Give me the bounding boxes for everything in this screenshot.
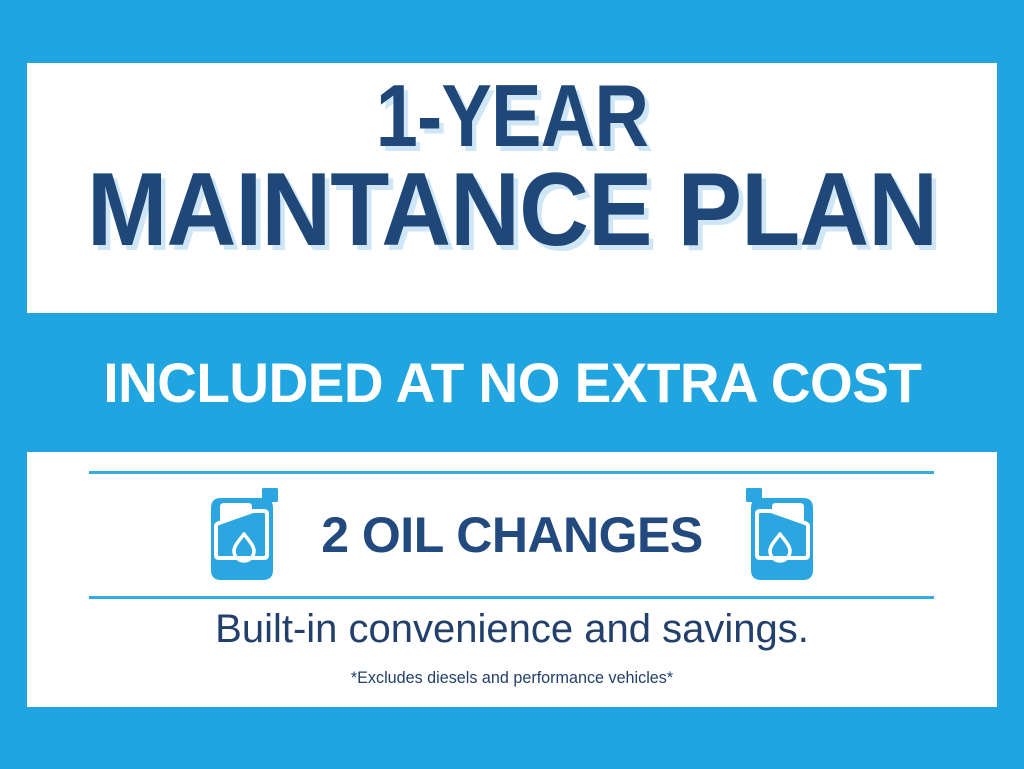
- oil-can-icon-right-svg: [743, 488, 817, 582]
- oil-can-icon-left-svg: [207, 488, 281, 582]
- oil-can-icon: [743, 488, 817, 582]
- disclaimer-text: *Excludes diesels and performance vehicl…: [51, 668, 973, 688]
- subtitle-band: INCLUDED AT NO EXTRA COST: [0, 313, 1024, 452]
- offer-row: 2 OIL CHANGES: [27, 474, 997, 596]
- title-line-2: MAINTANCE PLAN: [61, 162, 963, 260]
- subtitle-text: INCLUDED AT NO EXTRA COST: [103, 350, 921, 415]
- detail-card: 2 OIL CHANGES Built-in convenience and s…: [27, 452, 997, 707]
- divider-bottom: [89, 596, 934, 599]
- poster-title: 1-YEAR MAINTANCE PLAN: [27, 75, 997, 259]
- promo-poster: 1-YEAR MAINTANCE PLAN INCLUDED AT NO EXT…: [0, 0, 1024, 769]
- oil-can-icon: [207, 488, 281, 582]
- tagline-text: Built-in convenience and savings.: [27, 607, 997, 652]
- offer-label: 2 OIL CHANGES: [307, 506, 717, 564]
- title-card: 1-YEAR MAINTANCE PLAN: [27, 63, 997, 313]
- title-line-1: 1-YEAR: [95, 75, 929, 158]
